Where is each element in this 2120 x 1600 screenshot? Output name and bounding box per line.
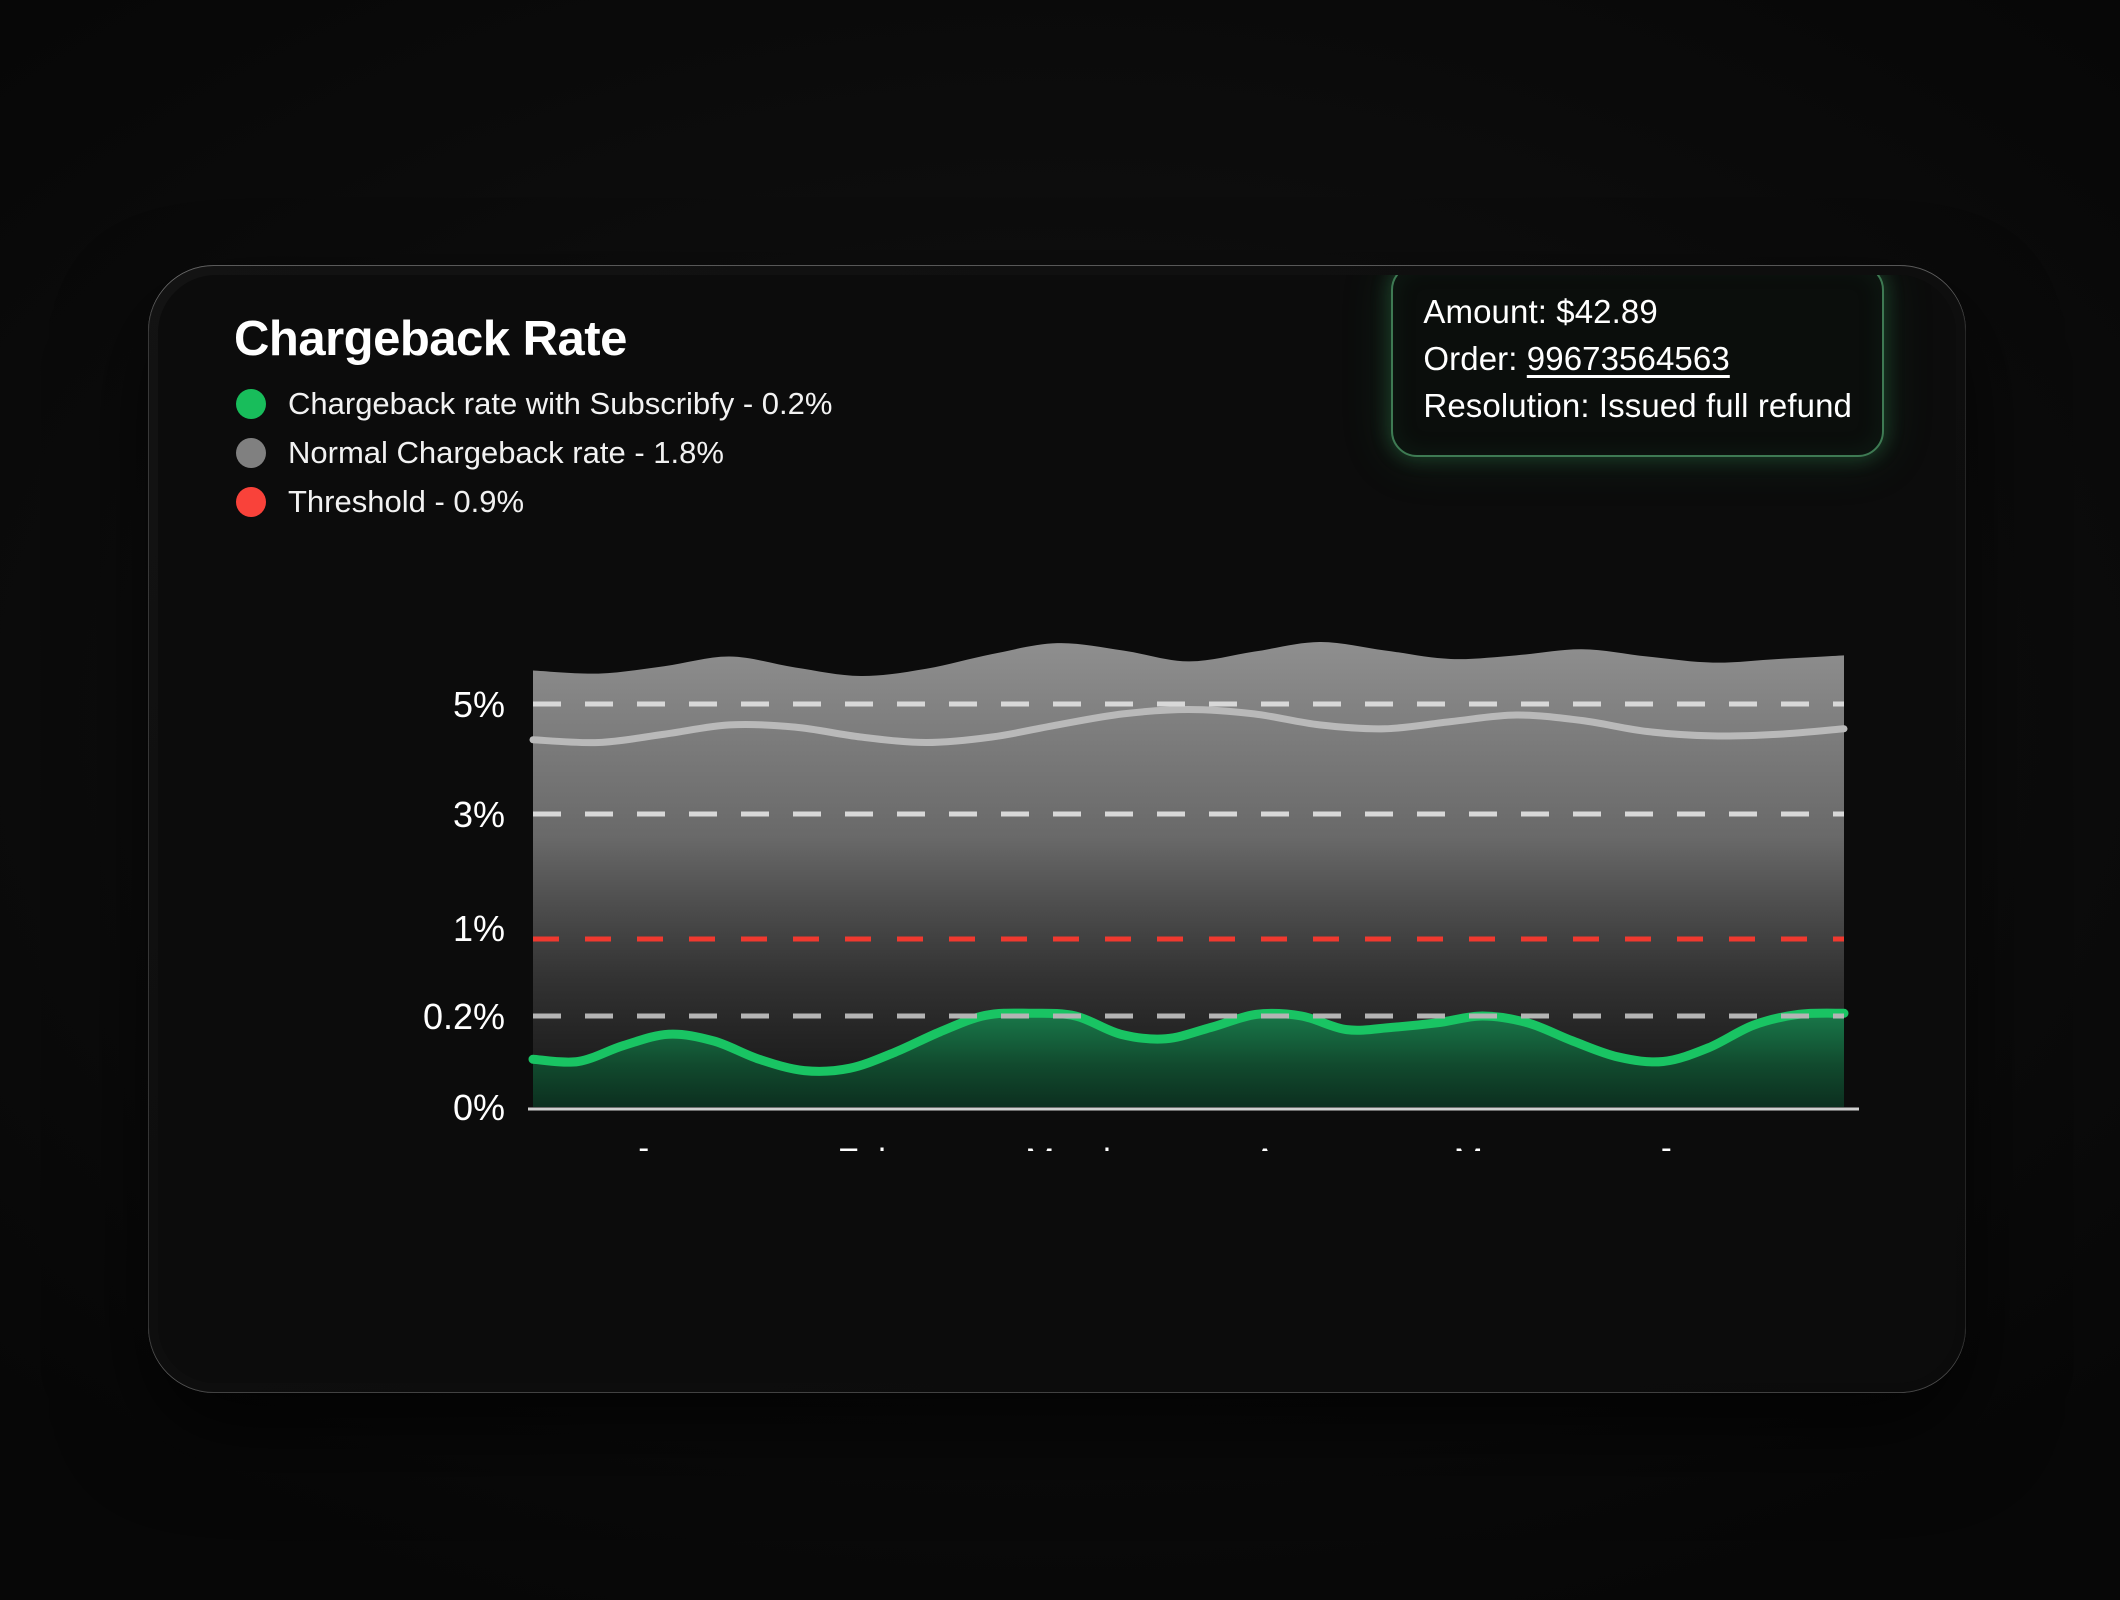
info-card-order-value[interactable]: 99673564563 [1527,340,1730,377]
chart-container: 5%3%1%0.2%0%JanFebMarchAprMayJune [158,471,1956,1151]
legend-dot-green [236,389,266,419]
device-screen: Chargeback Rate Chargeback rate with Sub… [158,275,1956,1383]
x-axis-tick-june: June [1655,1142,1731,1151]
x-axis-tick-feb: Feb [837,1142,897,1151]
legend-item-normal[interactable]: Normal Chargeback rate - 1.8% [236,436,832,470]
info-card-resolution-value: Issued full refund [1599,387,1852,424]
x-axis-tick-march: March [1025,1142,1122,1151]
page-title: Chargeback Rate [234,311,627,367]
device-frame: Chargeback Rate Chargeback rate with Sub… [148,265,1966,1393]
info-card-amount-label: Amount: [1423,293,1547,330]
x-axis-tick-may: May [1454,1142,1521,1151]
info-card-order-label: Order: [1423,340,1517,377]
y-axis-tick-0: 0% [453,1087,505,1128]
x-axis-tick-jan: Jan [633,1142,689,1151]
legend-label-normal: Normal Chargeback rate - 1.8% [288,436,724,470]
info-card-amount-line: Amount: $42.89 [1423,288,1852,335]
x-axis-tick-apr: Apr [1253,1142,1308,1151]
info-card-order-line: Order: 99673564563 [1423,335,1852,382]
y-axis-tick-5: 5% [453,684,505,725]
info-card-resolution-line: Resolution: Issued full refund [1423,382,1852,429]
info-card-amount-value: $42.89 [1556,293,1658,330]
legend-label-subscribfy: Chargeback rate with Subscribfy - 0.2% [288,387,832,421]
chargeback-rate-chart[interactable]: 5%3%1%0.2%0%JanFebMarchAprMayJune [158,471,1956,1151]
legend-dot-gray [236,438,266,468]
transaction-info-card[interactable]: Amount: $42.89 Order: 99673564563 Resolu… [1391,275,1884,457]
y-axis-tick-0-2: 0.2% [423,996,505,1037]
y-axis-tick-3: 3% [453,794,505,835]
info-card-resolution-label: Resolution: [1423,387,1589,424]
y-axis-tick-1: 1% [453,908,505,949]
screenshot-root: Chargeback Rate Chargeback rate with Sub… [0,0,2120,1600]
plot-layer [533,642,1844,1107]
legend-item-subscribfy[interactable]: Chargeback rate with Subscribfy - 0.2% [236,387,832,421]
